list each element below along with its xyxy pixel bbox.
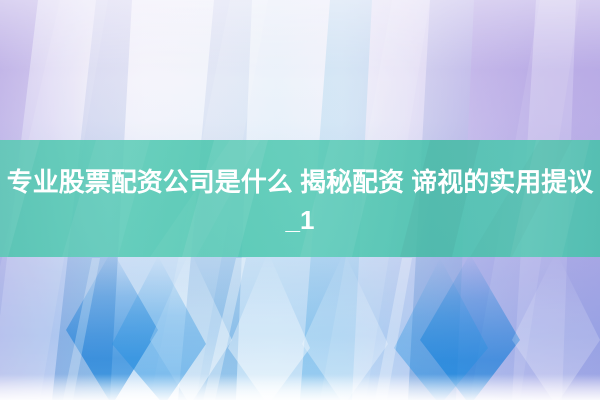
bottom-fade-overlay bbox=[0, 374, 600, 400]
caption-band: 专业股票配资公司是什么 揭秘配资 谛视的实用提议 _1 bbox=[0, 140, 600, 257]
banner-image: 专业股票配资公司是什么 揭秘配资 谛视的实用提议 _1 bbox=[0, 0, 600, 400]
top-light-overlay bbox=[0, 0, 600, 70]
caption-line-2: _1 bbox=[0, 203, 600, 237]
caption-line-1: 专业股票配资公司是什么 揭秘配资 谛视的实用提议 bbox=[0, 161, 600, 203]
